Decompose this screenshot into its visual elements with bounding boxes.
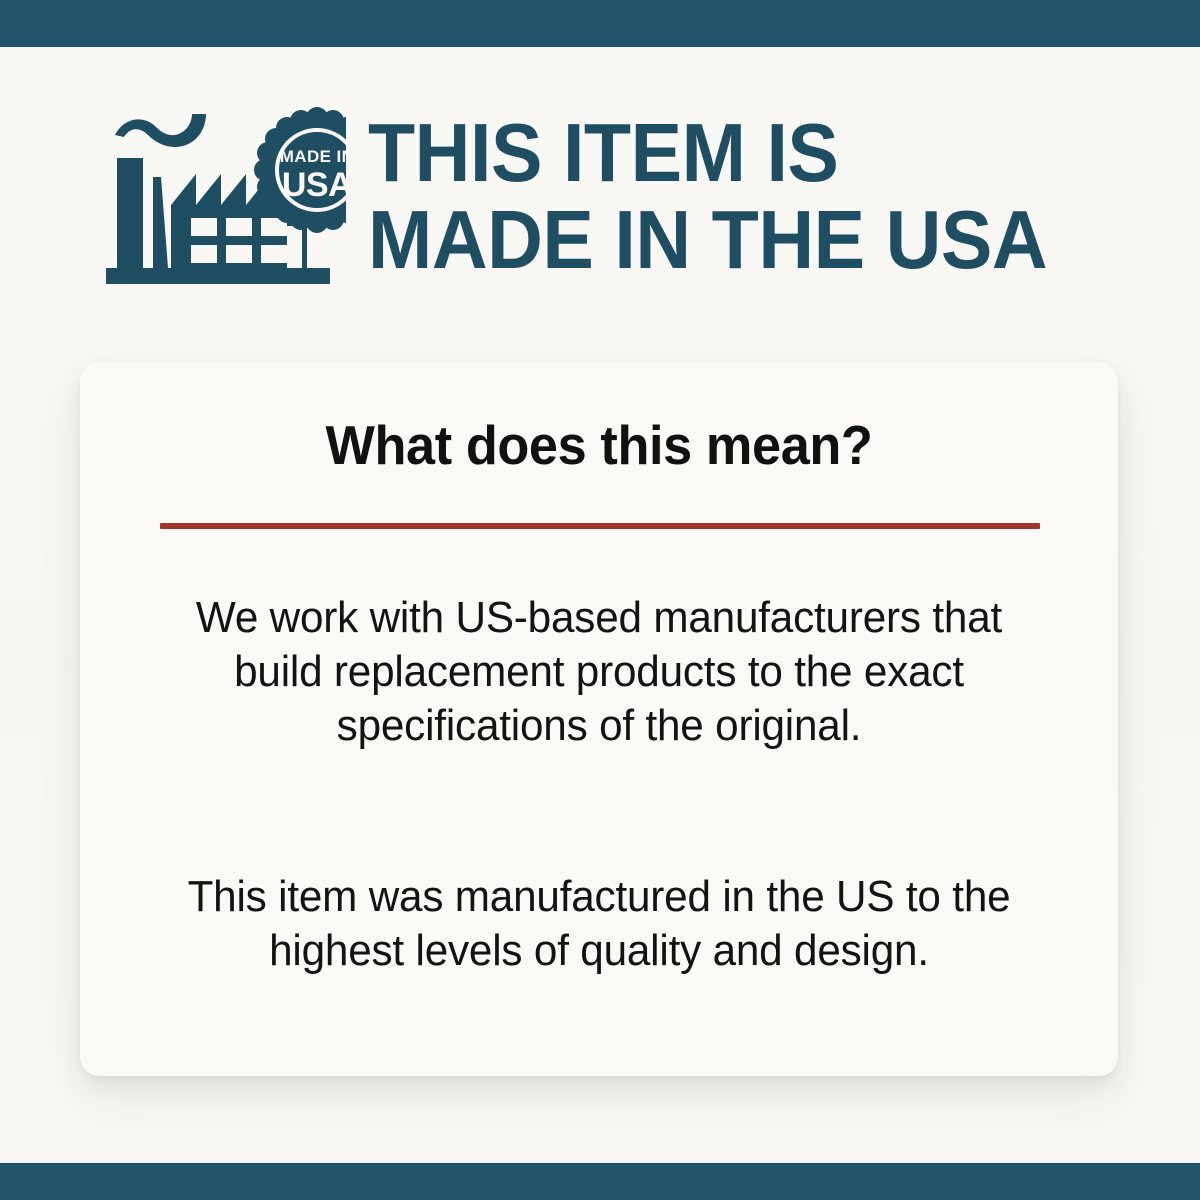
page-root: MADE IN USA THIS ITEM IS MADE IN THE USA…: [0, 0, 1200, 1200]
info-card: What does this mean? We work with US-bas…: [80, 362, 1118, 1076]
badge-line-one: MADE IN: [280, 147, 346, 166]
bottom-accent-bar: [0, 1163, 1200, 1200]
made-in-usa-badge-icon: MADE IN USA: [254, 107, 346, 233]
card-heading: What does this mean?: [182, 417, 1016, 475]
title-line-1: THIS ITEM IS: [368, 112, 1047, 193]
title-line-2: MADE IN THE USA: [368, 199, 1047, 280]
card-divider: [160, 523, 1040, 529]
card-paragraph-one: We work with US-based manufacturers that…: [178, 591, 1021, 753]
page-content: MADE IN USA THIS ITEM IS MADE IN THE USA…: [0, 47, 1200, 1163]
badge-line-two: USA: [282, 166, 346, 204]
top-accent-bar: [0, 0, 1200, 47]
factory-icon: MADE IN USA: [98, 105, 346, 290]
page-title: THIS ITEM IS MADE IN THE USA: [368, 112, 1098, 280]
header-banner: MADE IN USA THIS ITEM IS MADE IN THE USA: [0, 95, 1200, 295]
card-paragraph-two: This item was manufactured in the US to …: [178, 870, 1021, 978]
